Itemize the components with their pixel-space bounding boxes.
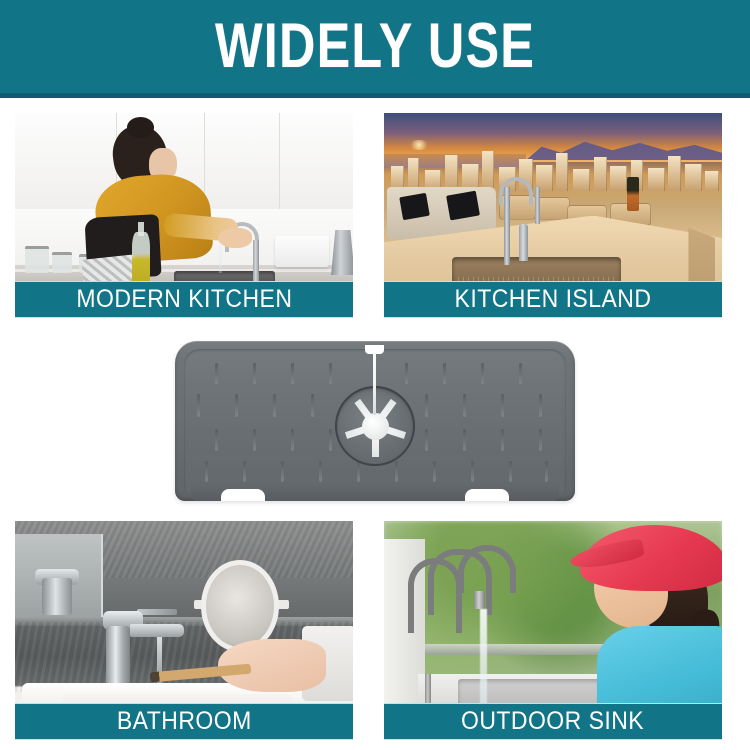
toaster: [275, 236, 329, 267]
building: [668, 156, 682, 191]
building: [573, 169, 590, 191]
drain-ridge: [329, 429, 332, 450]
tap-body: [106, 626, 130, 687]
drain-ridge: [395, 461, 398, 481]
caption-text: MODERN KITCHEN: [76, 287, 292, 312]
drain-ridge: [463, 394, 466, 416]
building: [445, 155, 459, 191]
drain-ridge: [471, 461, 474, 481]
city-skyline: [384, 146, 722, 191]
drain-ridge: [545, 461, 548, 481]
glass-jar: [25, 246, 49, 273]
building: [648, 168, 665, 191]
water-stream: [157, 637, 162, 690]
drain-ridge: [501, 429, 504, 450]
drain-ridge: [519, 363, 522, 383]
drain-ridge: [463, 429, 466, 450]
mat-edge-notch: [221, 489, 265, 501]
island-faucet-spout: [535, 187, 540, 224]
building: [610, 166, 627, 191]
caption-kitchen-island: KITCHEN ISLAND: [384, 281, 722, 318]
drain-ridge: [539, 429, 542, 450]
bottom-margin: [0, 740, 750, 750]
drain-ridge: [405, 363, 408, 383]
reflected-tap-body: [42, 578, 72, 615]
hub-center-hole: [362, 413, 389, 440]
faucet-stem: [253, 240, 259, 285]
caption-modern-kitchen: MODERN KITCHEN: [15, 281, 353, 318]
mirror-edge: [101, 534, 103, 622]
drain-ridge: [205, 461, 208, 481]
card-outdoor-sink[interactable]: OUTDOOR SINK: [384, 521, 722, 740]
drain-ridge: [319, 461, 322, 481]
card-kitchen-island[interactable]: KITCHEN ISLAND: [384, 113, 722, 318]
drain-ridge: [425, 394, 428, 416]
drain-ridge: [273, 394, 276, 416]
building: [685, 164, 702, 191]
island-faucet-stem: [504, 187, 510, 265]
caption-text: KITCHEN ISLAND: [455, 287, 652, 312]
drain-ridge: [291, 363, 294, 383]
header-underline: [0, 93, 750, 98]
caption-text: BATHROOM: [117, 709, 252, 734]
drain-ridge: [357, 461, 360, 481]
drain-ridge: [329, 363, 332, 383]
drain-ridge: [501, 394, 504, 416]
drain-ridge: [481, 363, 484, 383]
drain-ridge: [433, 461, 436, 481]
drain-ridge: [215, 429, 218, 450]
promo-page: WIDELY USE: [0, 0, 750, 750]
card-bathroom[interactable]: BATHROOM: [15, 521, 353, 740]
drain-ridge: [443, 363, 446, 383]
building: [594, 157, 608, 191]
drain-ridge: [509, 461, 512, 481]
drain-ridge: [253, 363, 256, 383]
drain-ridge: [215, 363, 218, 383]
building: [482, 151, 494, 191]
woman-hair-bun: [127, 117, 154, 138]
caption-text: OUTDOOR SINK: [461, 709, 644, 734]
drain-ridge: [291, 429, 294, 450]
drain-ridge: [235, 394, 238, 416]
gooseneck-pipe: [458, 545, 515, 593]
caption-outdoor-sink: OUTDOOR SINK: [384, 703, 722, 740]
drain-ridge: [425, 429, 428, 450]
soap-dispenser: [519, 224, 528, 261]
tap-spout: [130, 624, 184, 637]
cushion: [399, 193, 430, 220]
woman-hand: [218, 228, 252, 249]
caption-bathroom: BATHROOM: [15, 703, 353, 740]
drain-ridge: [243, 461, 246, 481]
card-modern-kitchen[interactable]: MODERN KITCHEN: [15, 113, 353, 318]
building: [556, 153, 568, 191]
drain-ridge: [197, 394, 200, 416]
mat-edge-notch: [465, 489, 509, 501]
faucet-aerator: [474, 591, 485, 609]
mat-split-slit: [373, 347, 376, 415]
drain-ridge: [311, 394, 314, 416]
drain-ridge: [281, 461, 284, 481]
stool: [536, 197, 570, 220]
cushion: [446, 190, 480, 220]
product-silicone-faucet-mat[interactable]: [175, 341, 575, 508]
drain-ridge: [253, 429, 256, 450]
drain-ridge: [539, 394, 542, 416]
header-banner: WIDELY USE: [0, 0, 750, 93]
mat-body: [175, 341, 575, 501]
tap-lever: [137, 609, 178, 616]
building: [705, 171, 719, 191]
glass-jar: [52, 252, 72, 273]
page-title: WIDELY USE: [215, 15, 535, 78]
wine-bottle: [627, 177, 638, 212]
